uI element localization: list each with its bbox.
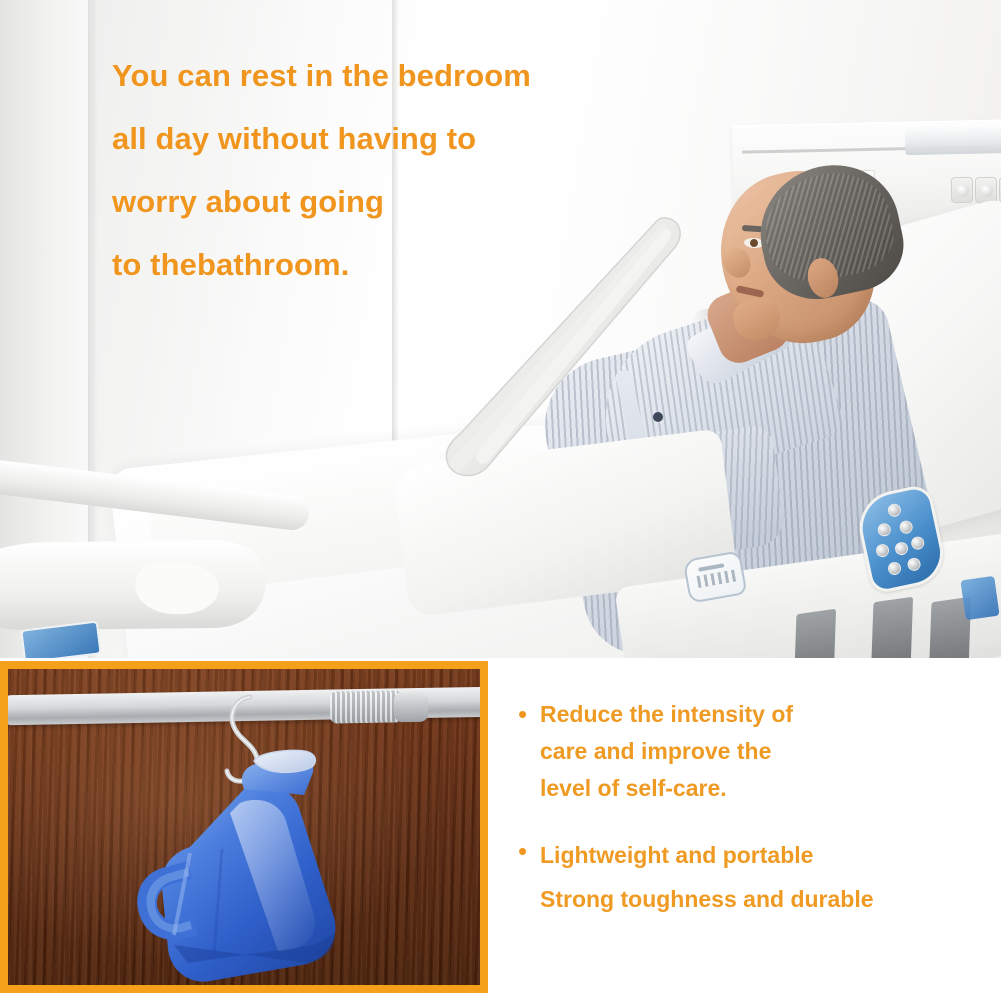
bed-base-bracket <box>794 609 836 660</box>
headline-block: You can rest in the bedroom all day with… <box>112 44 672 296</box>
bottom-panel: • Reduce the intensity of care and impro… <box>0 658 1001 1001</box>
bullet-item: • Reduce the intensity of care and impro… <box>518 696 988 807</box>
label-plate-text <box>697 569 738 588</box>
bed-rail-tip <box>394 692 429 723</box>
bed-rail-collar <box>330 690 403 723</box>
bullet-1-line-2: care and improve the <box>540 733 988 770</box>
feature-bullets: • Reduce the intensity of care and impro… <box>518 696 988 947</box>
headline-line-2: all day without having to <box>112 107 672 170</box>
bed-base-bracket <box>871 597 913 660</box>
marketing-banner: You can rest in the bedroom all day with… <box>0 0 1001 1001</box>
inset-product-photo <box>0 661 488 993</box>
bullet-1-line-3: level of self-care. <box>540 770 988 807</box>
label-plate-cap <box>698 563 724 571</box>
bed-side-rail-lower <box>0 470 290 650</box>
bullet-dot-icon: • <box>518 696 540 733</box>
bullet-1-line-1: Reduce the intensity of <box>540 696 988 733</box>
hero-photo: You can rest in the bedroom all day with… <box>0 0 1001 660</box>
bullet-dot-icon: • <box>518 833 540 870</box>
bullet-2-line-1: Lightweight and portable <box>540 833 988 877</box>
portable-urinal <box>118 749 368 989</box>
bed-blue-marker <box>960 576 999 620</box>
bullet-item: • Lightweight and portable Strong toughn… <box>518 833 988 921</box>
bullet-2-line-2: Strong toughness and durable <box>540 877 988 921</box>
headline-line-4: to thebathroom. <box>112 233 672 296</box>
headline-line-3: worry about going <box>112 170 672 233</box>
headline-line-1: You can rest in the bedroom <box>112 44 672 107</box>
